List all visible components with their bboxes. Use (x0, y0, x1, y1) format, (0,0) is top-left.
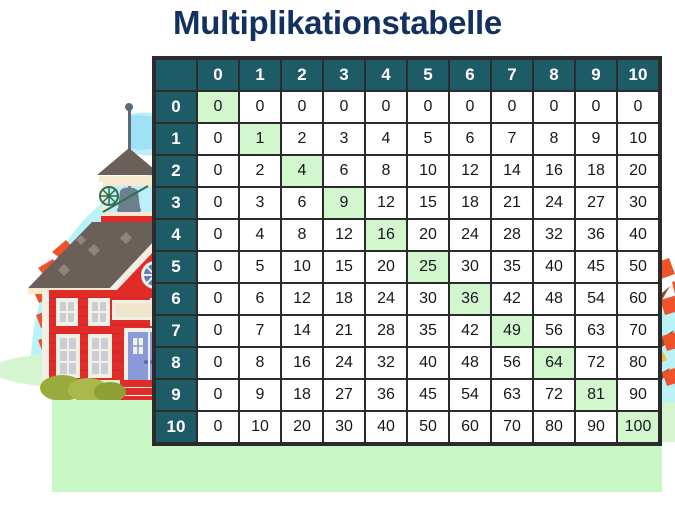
row-header-8: 8 (156, 348, 196, 378)
cell-5x8: 40 (534, 252, 574, 282)
cell-9x9: 81 (576, 380, 616, 410)
cell-3x4: 12 (366, 188, 406, 218)
multiplication-table-wrap: 012345678910 000000000000101234567891020… (152, 56, 662, 446)
cell-1x10: 10 (618, 124, 658, 154)
table-row: 606121824303642485460 (156, 284, 658, 314)
row-header-5: 5 (156, 252, 196, 282)
row-header-1: 1 (156, 124, 196, 154)
cell-9x7: 63 (492, 380, 532, 410)
cell-10x6: 60 (450, 412, 490, 442)
table-head: 012345678910 (156, 60, 658, 90)
cell-10x3: 30 (324, 412, 364, 442)
cell-6x5: 30 (408, 284, 448, 314)
cell-0x2: 0 (282, 92, 322, 122)
cell-4x9: 36 (576, 220, 616, 250)
cell-10x5: 50 (408, 412, 448, 442)
cell-1x8: 8 (534, 124, 574, 154)
cell-9x5: 45 (408, 380, 448, 410)
cell-8x5: 40 (408, 348, 448, 378)
cell-5x4: 20 (366, 252, 406, 282)
cell-2x2: 4 (282, 156, 322, 186)
cell-2x4: 8 (366, 156, 406, 186)
cell-6x3: 18 (324, 284, 364, 314)
cell-8x9: 72 (576, 348, 616, 378)
cell-4x8: 32 (534, 220, 574, 250)
cell-10x10: 100 (618, 412, 658, 442)
cell-3x6: 18 (450, 188, 490, 218)
cell-7x6: 42 (450, 316, 490, 346)
col-header-1: 1 (240, 60, 280, 90)
table-body: 0000000000001012345678910202468101214161… (156, 92, 658, 442)
col-header-9: 9 (576, 60, 616, 90)
cell-0x8: 0 (534, 92, 574, 122)
cell-8x3: 24 (324, 348, 364, 378)
cell-7x5: 35 (408, 316, 448, 346)
cell-0x4: 0 (366, 92, 406, 122)
cell-0x7: 0 (492, 92, 532, 122)
cell-8x4: 32 (366, 348, 406, 378)
cell-5x7: 35 (492, 252, 532, 282)
cell-2x5: 10 (408, 156, 448, 186)
row-header-10: 10 (156, 412, 196, 442)
cell-5x2: 10 (282, 252, 322, 282)
table-row: 40481216202428323640 (156, 220, 658, 250)
cell-6x8: 48 (534, 284, 574, 314)
col-header-4: 4 (366, 60, 406, 90)
row-header-3: 3 (156, 188, 196, 218)
autumn-tree-left (33, 240, 103, 370)
cell-3x0: 0 (198, 188, 238, 218)
cell-6x9: 54 (576, 284, 616, 314)
cell-4x6: 24 (450, 220, 490, 250)
cell-4x5: 20 (408, 220, 448, 250)
cell-7x1: 7 (240, 316, 280, 346)
col-header-7: 7 (492, 60, 532, 90)
cell-6x0: 0 (198, 284, 238, 314)
cell-9x0: 0 (198, 380, 238, 410)
cell-8x1: 8 (240, 348, 280, 378)
cell-2x7: 14 (492, 156, 532, 186)
cell-6x2: 12 (282, 284, 322, 314)
cell-7x2: 14 (282, 316, 322, 346)
cell-5x0: 0 (198, 252, 238, 282)
cell-5x6: 30 (450, 252, 490, 282)
cell-1x5: 5 (408, 124, 448, 154)
cell-9x8: 72 (534, 380, 574, 410)
cell-4x0: 0 (198, 220, 238, 250)
cell-0x9: 0 (576, 92, 616, 122)
row-header-7: 7 (156, 316, 196, 346)
cell-10x0: 0 (198, 412, 238, 442)
row-header-9: 9 (156, 380, 196, 410)
cell-6x10: 60 (618, 284, 658, 314)
table-row: 100102030405060708090100 (156, 412, 658, 442)
row-header-2: 2 (156, 156, 196, 186)
cell-8x8: 64 (534, 348, 574, 378)
cell-7x9: 63 (576, 316, 616, 346)
cell-1x9: 9 (576, 124, 616, 154)
cell-0x5: 0 (408, 92, 448, 122)
cell-4x3: 12 (324, 220, 364, 250)
cell-9x4: 36 (366, 380, 406, 410)
cell-2x3: 6 (324, 156, 364, 186)
cell-1x0: 0 (198, 124, 238, 154)
table-row: 202468101214161820 (156, 156, 658, 186)
cell-3x9: 27 (576, 188, 616, 218)
cell-7x10: 70 (618, 316, 658, 346)
cell-3x7: 21 (492, 188, 532, 218)
cell-5x9: 45 (576, 252, 616, 282)
table-row: 505101520253035404550 (156, 252, 658, 282)
table-corner-cell (156, 60, 196, 90)
cell-4x1: 4 (240, 220, 280, 250)
cell-8x7: 56 (492, 348, 532, 378)
cell-0x10: 0 (618, 92, 658, 122)
cell-7x8: 56 (534, 316, 574, 346)
cell-8x10: 80 (618, 348, 658, 378)
table-row: 909182736455463728190 (156, 380, 658, 410)
cell-8x6: 48 (450, 348, 490, 378)
cell-2x10: 20 (618, 156, 658, 186)
cell-2x9: 18 (576, 156, 616, 186)
cell-3x1: 3 (240, 188, 280, 218)
col-header-2: 2 (282, 60, 322, 90)
worksheet-page: Multiplikationstabelle 012345678910 0000… (0, 0, 675, 520)
col-header-8: 8 (534, 60, 574, 90)
cell-2x1: 2 (240, 156, 280, 186)
cell-2x8: 16 (534, 156, 574, 186)
cell-6x6: 36 (450, 284, 490, 314)
cell-0x3: 0 (324, 92, 364, 122)
cell-10x1: 10 (240, 412, 280, 442)
col-header-10: 10 (618, 60, 658, 90)
cell-8x2: 16 (282, 348, 322, 378)
table-row: 1012345678910 (156, 124, 658, 154)
cell-1x3: 3 (324, 124, 364, 154)
row-header-4: 4 (156, 220, 196, 250)
cell-9x6: 54 (450, 380, 490, 410)
cell-0x1: 0 (240, 92, 280, 122)
col-header-3: 3 (324, 60, 364, 90)
cell-10x2: 20 (282, 412, 322, 442)
cell-9x3: 27 (324, 380, 364, 410)
cell-5x1: 5 (240, 252, 280, 282)
cell-9x1: 9 (240, 380, 280, 410)
cell-3x8: 24 (534, 188, 574, 218)
cell-1x7: 7 (492, 124, 532, 154)
cell-2x6: 12 (450, 156, 490, 186)
page-title: Multiplikationstabelle (0, 4, 675, 42)
cell-10x9: 90 (576, 412, 616, 442)
cell-6x1: 6 (240, 284, 280, 314)
table-row: 000000000000 (156, 92, 658, 122)
header-row: 012345678910 (156, 60, 658, 90)
cell-5x3: 15 (324, 252, 364, 282)
col-header-0: 0 (198, 60, 238, 90)
cell-4x4: 16 (366, 220, 406, 250)
cell-0x6: 0 (450, 92, 490, 122)
col-header-5: 5 (408, 60, 448, 90)
cell-6x4: 24 (366, 284, 406, 314)
multiplication-table: 012345678910 000000000000101234567891020… (152, 56, 662, 446)
cell-9x10: 90 (618, 380, 658, 410)
cell-4x10: 40 (618, 220, 658, 250)
cell-9x2: 18 (282, 380, 322, 410)
cell-4x7: 28 (492, 220, 532, 250)
cell-1x6: 6 (450, 124, 490, 154)
cell-7x3: 21 (324, 316, 364, 346)
cell-1x4: 4 (366, 124, 406, 154)
cell-2x0: 0 (198, 156, 238, 186)
cell-7x4: 28 (366, 316, 406, 346)
cell-3x10: 30 (618, 188, 658, 218)
cell-1x2: 2 (282, 124, 322, 154)
row-header-6: 6 (156, 284, 196, 314)
row-header-0: 0 (156, 92, 196, 122)
cell-7x0: 0 (198, 316, 238, 346)
cell-1x1: 1 (240, 124, 280, 154)
col-header-6: 6 (450, 60, 490, 90)
cell-7x7: 49 (492, 316, 532, 346)
table-row: 808162432404856647280 (156, 348, 658, 378)
cell-3x3: 9 (324, 188, 364, 218)
cell-4x2: 8 (282, 220, 322, 250)
table-row: 3036912151821242730 (156, 188, 658, 218)
cell-8x0: 0 (198, 348, 238, 378)
cell-3x2: 6 (282, 188, 322, 218)
cell-5x10: 50 (618, 252, 658, 282)
table-row: 707142128354249566370 (156, 316, 658, 346)
cell-6x7: 42 (492, 284, 532, 314)
cell-10x7: 70 (492, 412, 532, 442)
cell-10x8: 80 (534, 412, 574, 442)
cell-0x0: 0 (198, 92, 238, 122)
cell-5x5: 25 (408, 252, 448, 282)
cell-10x4: 40 (366, 412, 406, 442)
cell-3x5: 15 (408, 188, 448, 218)
